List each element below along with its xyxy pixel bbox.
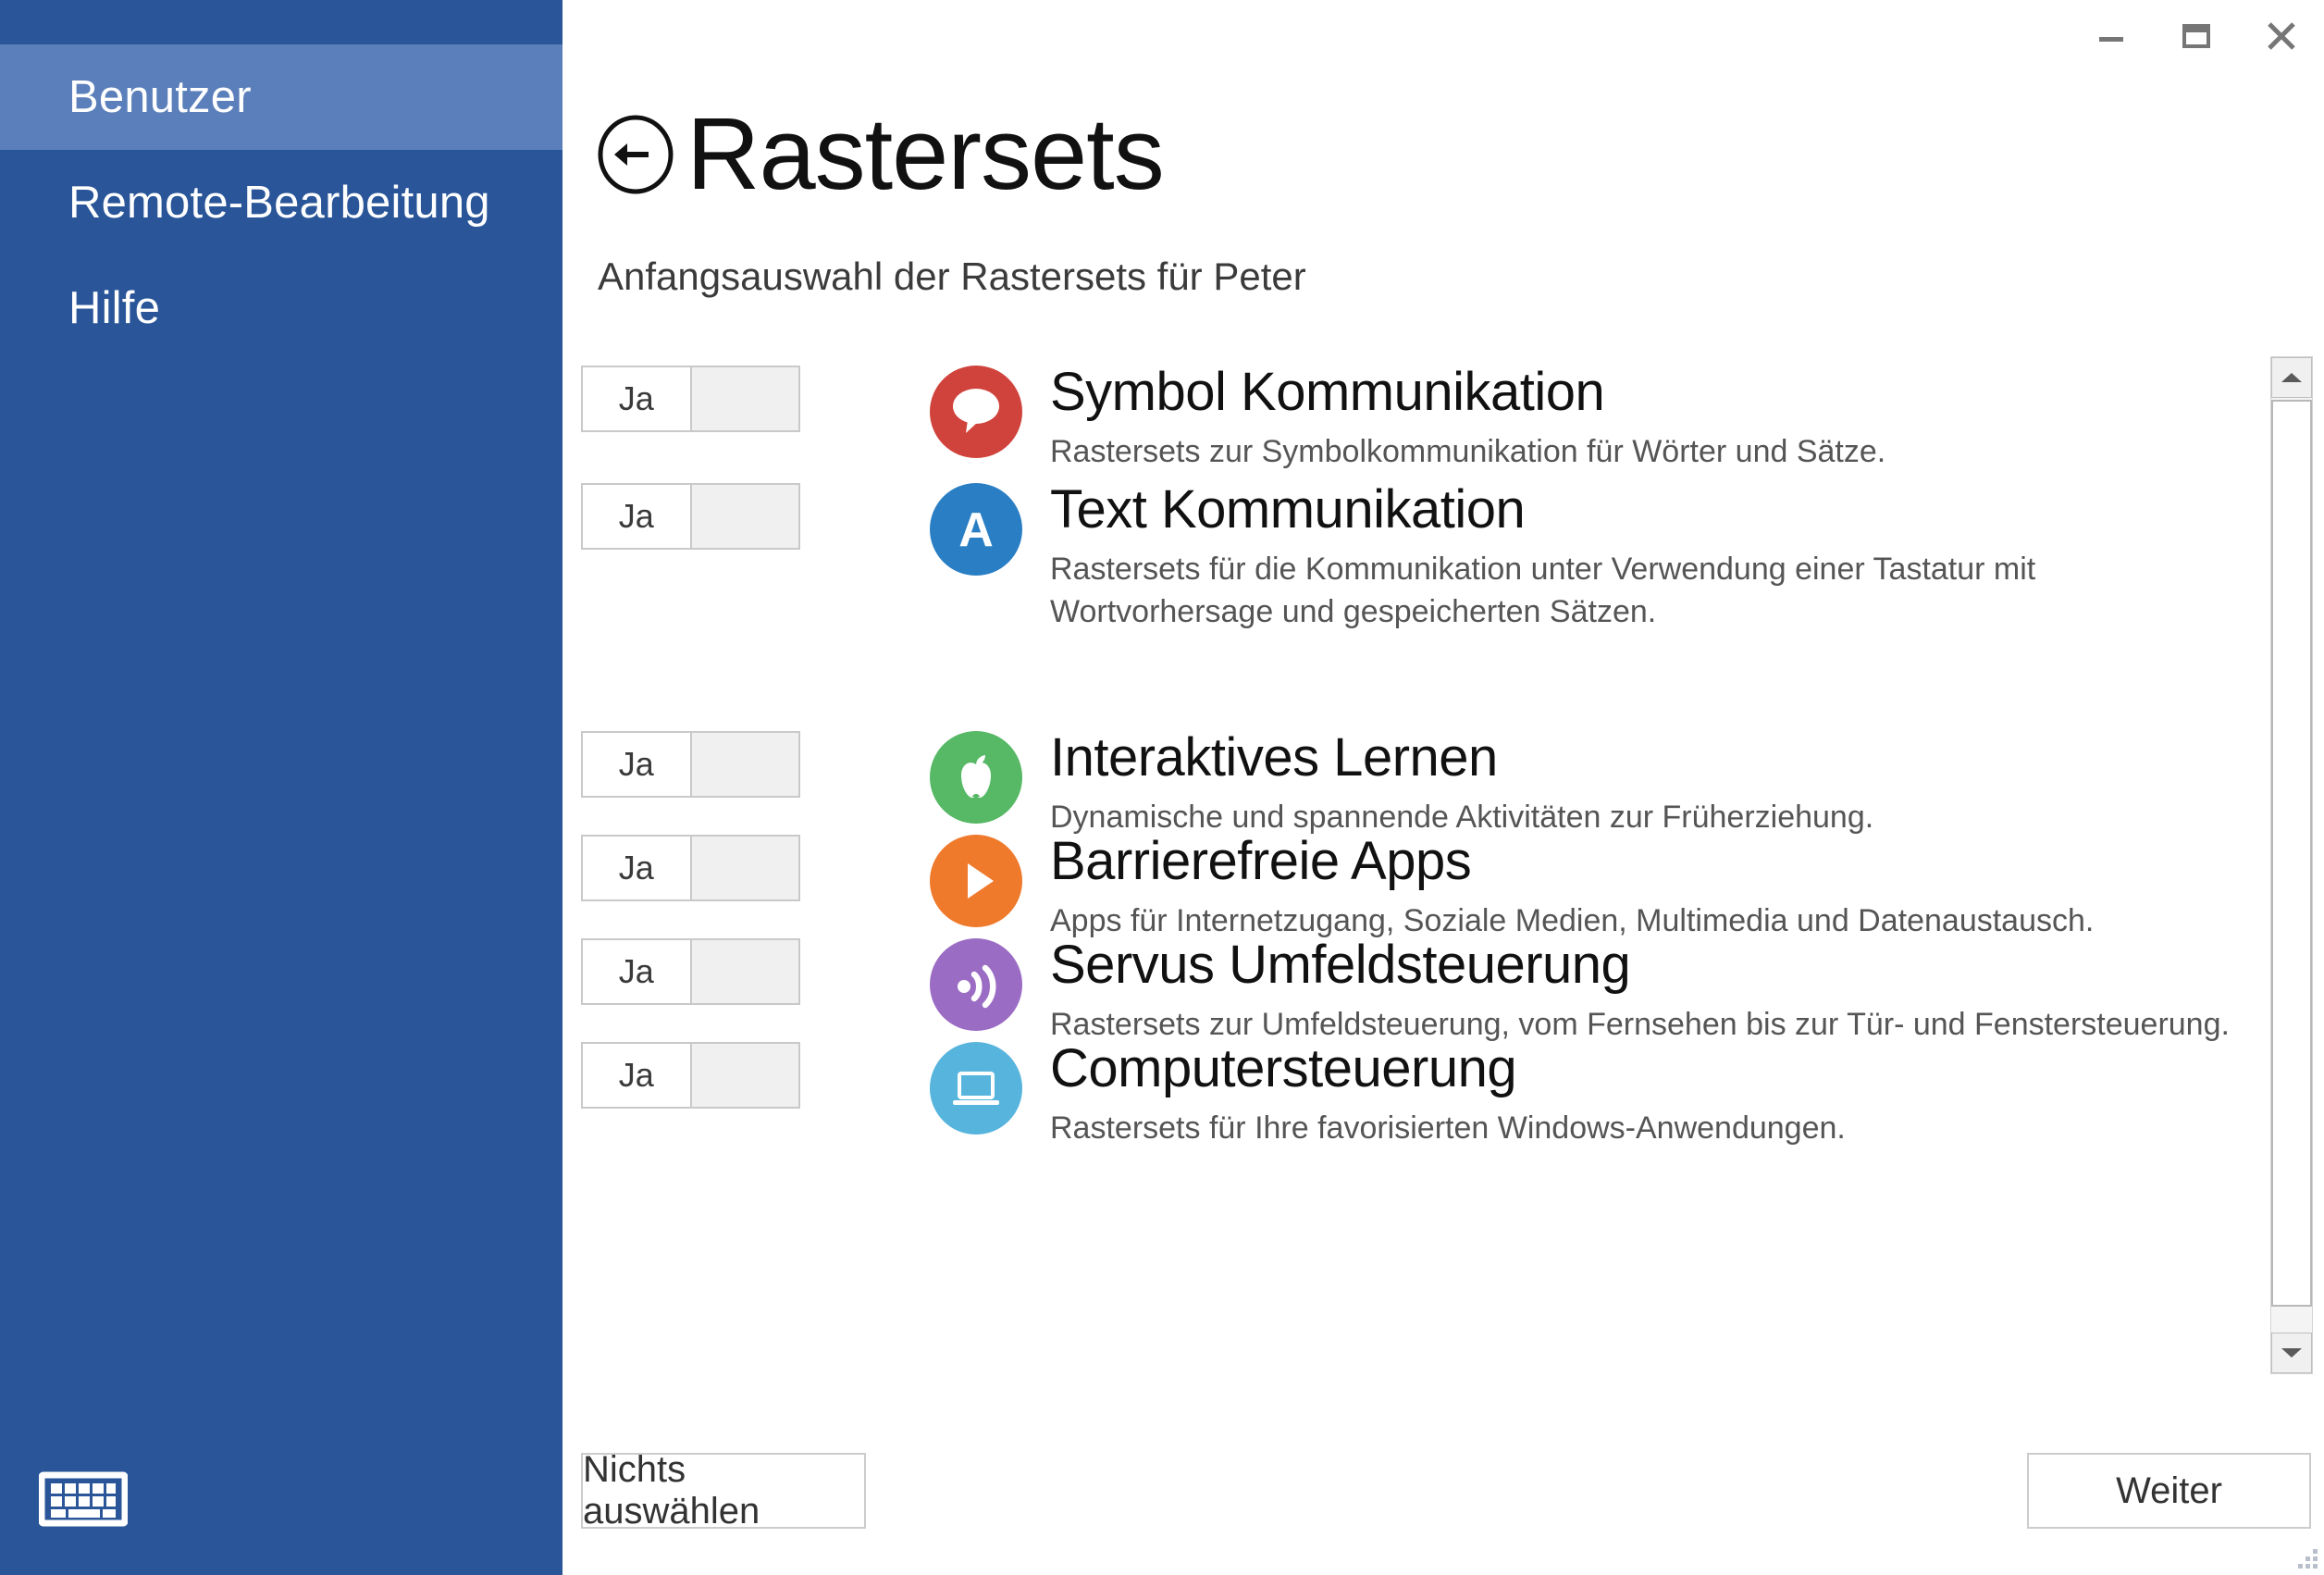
speech-bubble-glyph [947,383,1005,440]
sidebar-item-label: Hilfe [68,282,160,334]
chevron-down-icon [2280,1346,2304,1360]
rasterset-list: Ja Symbol Kommunikation Rastersets zur S… [581,356,2256,1374]
resize-grip-icon[interactable] [2289,1540,2320,1571]
toggle-interaktives-lernen[interactable]: Ja [581,731,800,798]
list-item-title: Symbol Kommunikation [1050,366,2256,419]
toggle-text-kommunikation[interactable]: Ja [581,483,800,550]
toggle-off-segment[interactable] [692,1044,799,1107]
list-item-title: Text Kommunikation [1050,483,2256,537]
sidebar-item-hilfe[interactable]: Hilfe [0,255,562,361]
toggle-off-segment[interactable] [692,485,799,548]
sidebar-item-benutzer[interactable]: Benutzer [0,44,562,150]
list-item-text: Computersteuerung Rastersets für Ihre fa… [1050,1042,2256,1149]
list-item-text: Text Kommunikation Rastersets für die Ko… [1050,483,2256,633]
list-item-title: Barrierefreie Apps [1050,835,2256,888]
toggle-off-segment[interactable] [692,733,799,796]
sidebar: Benutzer Remote-Bearbeitung Hilfe [0,0,562,1575]
sidebar-item-label: Remote-Bearbeitung [68,177,490,229]
svg-text:A: A [958,503,994,557]
restore-button[interactable] [2154,0,2239,72]
toggle-off-segment[interactable] [692,837,799,899]
toggle-barrierefreie-apps[interactable]: Ja [581,835,800,901]
minimize-button[interactable] [2069,0,2154,72]
toggle-symbol-kommunikation[interactable]: Ja [581,366,800,432]
deselect-all-button[interactable]: Nichts auswählen [581,1453,866,1529]
page-title: Rastersets [686,104,1164,205]
toggle-servus-umfeldsteuerung[interactable]: Ja [581,938,800,1005]
laptop-icon [930,1042,1022,1135]
list-item-title: Computersteuerung [1050,1042,2256,1096]
next-button[interactable]: Weiter [2027,1453,2311,1529]
list-item-text: Barrierefreie Apps Apps für Internetzuga… [1050,835,2256,942]
list-item: Ja Barrierefreie Apps Apps für Internetz… [581,835,2256,942]
laptop-glyph [947,1060,1005,1117]
toggle-on-segment[interactable]: Ja [583,367,692,430]
app-window: Benutzer Remote-Bearbeitung Hilfe [0,0,2324,1575]
letter-a-icon: A [930,483,1022,576]
list-item: Ja Symbol Kommunikation Rastersets zur S… [581,366,2256,473]
speech-bubble-icon [930,366,1022,458]
sidebar-item-remote-bearbeitung[interactable]: Remote-Bearbeitung [0,150,562,255]
sidebar-item-label: Benutzer [68,71,252,123]
toggle-on-segment[interactable]: Ja [583,485,692,548]
vertical-scrollbar[interactable] [2270,356,2313,1374]
keyboard-button[interactable] [32,1460,134,1538]
page-subtitle: Anfangsauswahl der Rastersets für Peter [598,254,1306,299]
chevron-up-icon [2280,370,2304,385]
window-controls [2046,0,2324,72]
toggle-off-segment[interactable] [692,367,799,430]
list-item: Ja Interaktives Lernen Dynamische und sp… [581,731,2256,838]
toggle-off-segment[interactable] [692,940,799,1003]
list-item-text: Symbol Kommunikation Rastersets zur Symb… [1050,366,2256,473]
list-item-text: Interaktives Lernen Dynamische und spann… [1050,731,2256,838]
toggle-on-segment[interactable]: Ja [583,837,692,899]
restore-icon [2180,19,2213,53]
scroll-down-button[interactable] [2271,1333,2312,1373]
play-triangle-icon [930,835,1022,927]
list-item-title: Interaktives Lernen [1050,731,2256,785]
scrollbar-thumb[interactable] [2271,400,2312,1307]
scroll-up-button[interactable] [2271,357,2312,398]
close-button[interactable] [2239,0,2324,72]
close-icon [2263,18,2300,55]
keyboard-icon [39,1466,128,1532]
list-item: Ja A Text Kommunikation Rastersets für d… [581,483,2256,633]
toggle-on-segment[interactable]: Ja [583,733,692,796]
page-header: Rastersets [596,104,1164,205]
back-arrow-circle-icon[interactable] [596,115,675,194]
list-item: Ja Servus Umfeldsteuerung Rastersets zur… [581,938,2256,1046]
signal-waves-icon [930,938,1022,1031]
list-item-description: Rastersets für die Kommunikation unter V… [1050,548,2256,633]
toggle-on-segment[interactable]: Ja [583,1044,692,1107]
apple-icon [930,731,1022,824]
play-triangle-glyph [947,852,1005,910]
list-item-text: Servus Umfeldsteuerung Rastersets zur Um… [1050,938,2256,1046]
minimize-icon [2095,20,2127,52]
list-item-description: Rastersets zur Symbolkommunikation für W… [1050,430,2256,473]
apple-glyph [947,749,1005,806]
signal-waves-glyph [947,956,1005,1013]
list-item-title: Servus Umfeldsteuerung [1050,938,2256,992]
list-item: Ja Computersteuerung Rastersets für Ihre… [581,1042,2256,1149]
main-content: Rastersets Anfangsauswahl der Rastersets… [562,0,2324,1575]
letter-a-glyph: A [947,501,1005,558]
list-item-description: Rastersets für Ihre favorisierten Window… [1050,1107,2256,1149]
toggle-computersteuerung[interactable]: Ja [581,1042,800,1109]
toggle-on-segment[interactable]: Ja [583,940,692,1003]
